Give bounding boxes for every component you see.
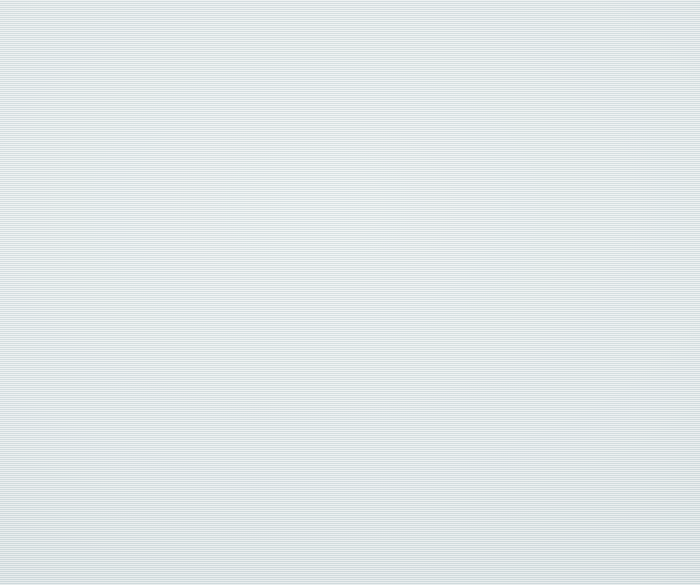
page-title: 7.3) Impedance Spectroscopy, part II (38, 60, 453, 89)
intro-line: voltage source is connected to the cell,… (40, 164, 660, 183)
task-line: complexplot(). (52, 529, 664, 548)
circuit-label-membrane: Membrane (72, 306, 168, 318)
task-line: x axis, and the imaginary part of the im… (52, 490, 664, 509)
task-paragraph: For frequencies from DC (0 Hz) to 50 kil… (52, 452, 664, 548)
electricity-box (504, 394, 534, 428)
circuit-label-interface: Interface (190, 306, 310, 318)
randles-circuit-diagram: Membrane R1=10mΩ Interface Polarization … (40, 270, 370, 420)
resistor-r2-symbol (216, 287, 265, 303)
figure-label-electricity: Electricity (446, 400, 488, 410)
resistor-r1-symbol (95, 287, 144, 303)
task-line: For frequencies from DC (0 Hz) to 50 kil… (52, 452, 664, 471)
intro-line: of the fuel cell. Fuel cells produce DC … (40, 203, 660, 222)
fuel-cells-leader-line (450, 256, 486, 288)
task-line: impedance of any interesting looking poi… (52, 510, 664, 529)
membrane-electrode-block: + (452, 283, 536, 402)
intro-line: them. The fuel cell does not produce any… (40, 222, 660, 241)
circuit-label-r2-value: R2=60mΩ (190, 334, 310, 346)
figure-label-water: Water (582, 328, 607, 338)
circuit-label-polarization: Polarization (190, 320, 310, 332)
circuit-label-r1-value: R1=10mΩ (72, 320, 168, 332)
task-line: impedance of the fuel cell as a function… (52, 471, 664, 490)
circuit-label-double-layer: Double Layer, C=4 µF (170, 396, 330, 408)
svg-text:+: + (520, 342, 527, 351)
intro-paragraph: When characterizing fuel cells, one comm… (40, 126, 660, 241)
fuel-cell-stack-svg: + (390, 242, 690, 432)
figure-label-oxygen: Oxygen (532, 245, 563, 255)
intro-line: measured current pattern as a function o… (40, 184, 660, 203)
intro-line: When characterizing fuel cells, one comm… (40, 126, 660, 145)
capacitor-c-symbol (234, 362, 242, 390)
fuel-cell-illustration: + (390, 242, 690, 432)
figure-label-hydrogen: Hydrogen (390, 289, 430, 299)
intro-line: Another characterization method is calle… (40, 145, 660, 164)
figure-label-fuel-cells: Fuel cells (438, 247, 476, 257)
